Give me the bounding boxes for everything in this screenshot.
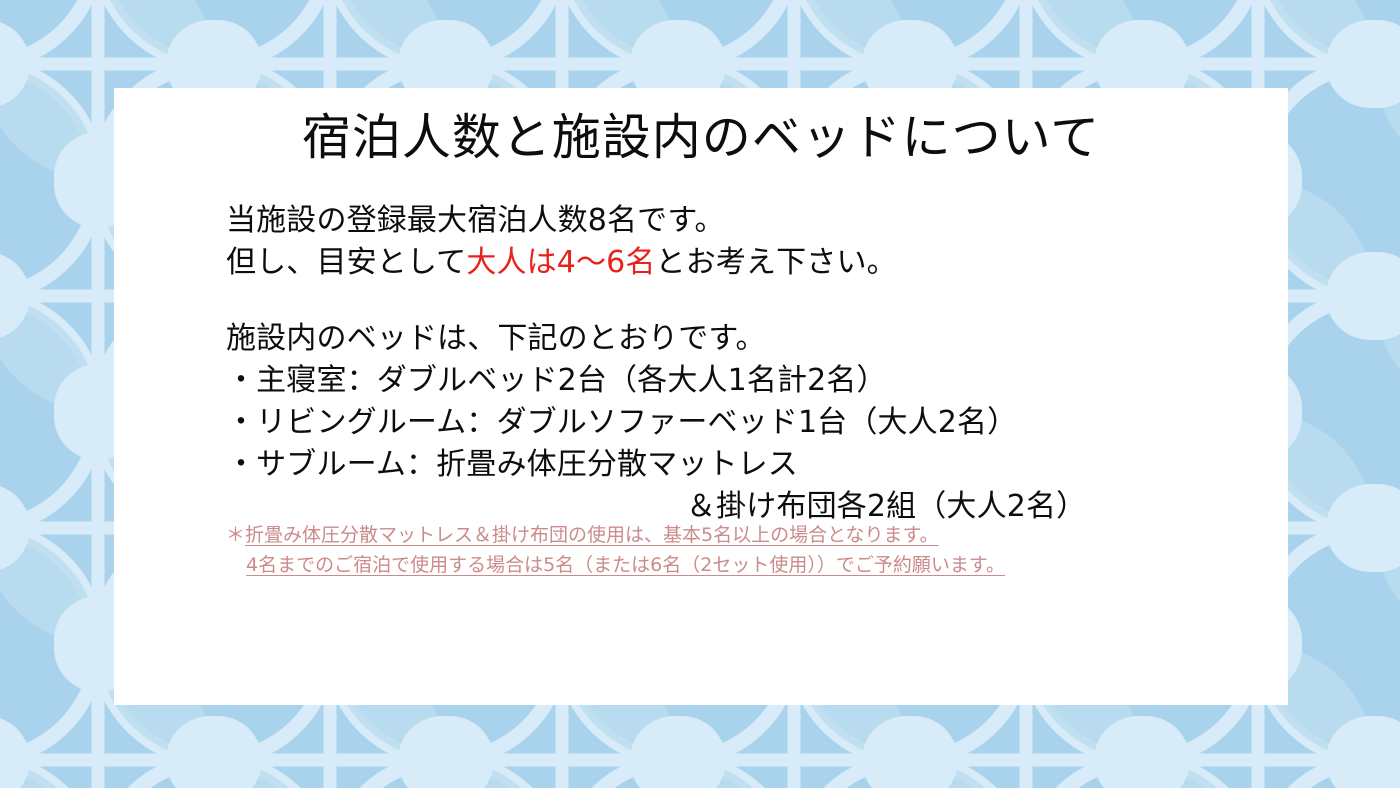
- body-line-capacity-2: 但し、目安として大人は4〜6名とお考え下さい。: [226, 242, 1276, 284]
- bed-item-sub-room: ・サブルーム：折畳み体圧分散マットレス: [226, 444, 1276, 486]
- footnote-line-2: 4名までのご宿泊で使用する場合は5名（または6名（2セット使用））でご予約願いま…: [226, 550, 1286, 580]
- footnote-block: ＊折畳み体圧分散マットレス＆掛け布団の使用は、基本5名以上の場合となります。 4…: [226, 520, 1286, 580]
- capacity-suffix: とお考え下さい。: [656, 245, 897, 280]
- capacity-prefix: 但し、目安として: [226, 245, 466, 280]
- living-room-text: ・リビングルーム：ダブルソファーベッド1台（大人2名）: [226, 405, 1017, 440]
- sub-room-text: ・サブルーム：折畳み体圧分散マットレス: [226, 447, 798, 482]
- footnote-line-1: ＊折畳み体圧分散マットレス＆掛け布団の使用は、基本5名以上の場合となります。: [226, 520, 1286, 550]
- content-card: 宿泊人数と施設内のベッドについて 当施設の登録最大宿泊人数8名です。 但し、目安…: [114, 88, 1288, 705]
- slide-body: 当施設の登録最大宿泊人数8名です。 但し、目安として大人は4〜6名とお考え下さい…: [226, 200, 1276, 528]
- footnote-marker: ＊: [226, 524, 245, 546]
- bed-item-master-bedroom: ・主寝室：ダブルベッド2台（各大人1名計2名）: [226, 360, 1276, 402]
- sub-room-continued-text: ＆掛け布団各2組（大人2名）: [226, 489, 1086, 524]
- body-spacer: [226, 284, 1276, 318]
- footnote-text-2: 4名までのご宿泊で使用する場合は5名（または6名（2セット使用））でご予約願いま…: [246, 554, 1005, 576]
- master-bedroom-text: ・主寝室：ダブルベッド2台（各大人1名計2名）: [226, 363, 887, 398]
- beds-intro-text: 施設内のベッドは、下記のとおりです。: [226, 321, 766, 356]
- bed-item-living-room: ・リビングルーム：ダブルソファーベッド1台（大人2名）: [226, 402, 1276, 444]
- body-line-beds-intro: 施設内のベッドは、下記のとおりです。: [226, 318, 1276, 360]
- slide-title: 宿泊人数と施設内のベッドについて: [114, 110, 1288, 166]
- body-line-capacity-1: 当施設の登録最大宿泊人数8名です。: [226, 200, 1276, 242]
- footnote-text-1: 折畳み体圧分散マットレス＆掛け布団の使用は、基本5名以上の場合となります。: [245, 524, 939, 546]
- adults-count-highlight: 大人は4〜6名: [466, 245, 655, 280]
- slide-root: 宿泊人数と施設内のベッドについて 当施設の登録最大宿泊人数8名です。 但し、目安…: [0, 0, 1400, 788]
- capacity-text: 当施設の登録最大宿泊人数8名です。: [226, 203, 725, 238]
